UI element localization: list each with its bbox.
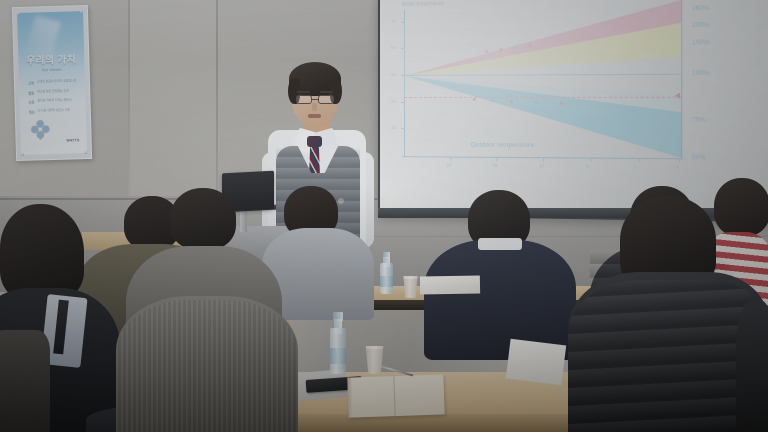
presenter-eyebrow-right bbox=[320, 91, 333, 93]
poster-value-key: 신뢰 bbox=[28, 99, 34, 104]
poster-value-text: 더 나은 내일을 만드는 기술 bbox=[38, 108, 71, 113]
presenter-eyebrow-left bbox=[297, 91, 310, 93]
notebook-spine bbox=[347, 378, 352, 418]
water-bottle bbox=[330, 312, 346, 374]
eyeglasses-bridge-icon bbox=[311, 99, 318, 100]
bottle-label bbox=[380, 276, 393, 287]
seminar-room-photo: 우리의 가치 Our Values 고객 고객의 성공이 우리의 성공입니다 열… bbox=[0, 0, 768, 432]
notebook bbox=[347, 374, 444, 417]
projection-screen: Water temperature 70 60 50 40 30 20 15 1… bbox=[380, 0, 768, 218]
poster-mount-screw bbox=[17, 12, 20, 15]
handout-paper bbox=[506, 339, 566, 386]
wall-poster: 우리의 가치 Our Values 고객 고객의 성공이 우리의 성공입니다 열… bbox=[12, 5, 92, 161]
eyeglasses-icon bbox=[296, 95, 312, 104]
attendee-knit-texture bbox=[116, 300, 298, 432]
water-bottle bbox=[380, 252, 393, 294]
clover-logo-icon bbox=[29, 118, 52, 141]
poster-subtitle: Our Values bbox=[19, 67, 85, 73]
poster-value-text: 최고를 향한 끊임없는 도전 bbox=[37, 89, 69, 94]
paper-cup-rim bbox=[364, 346, 385, 349]
screen-shading bbox=[380, 0, 768, 218]
attendee-body bbox=[736, 300, 768, 432]
attendee-body bbox=[0, 330, 50, 432]
poster-mount-screw bbox=[84, 151, 87, 154]
poster-value-text: 정직과 약속을 지키는 파트너 bbox=[37, 98, 71, 103]
attendee-head bbox=[170, 188, 236, 250]
attendee-collar bbox=[478, 238, 522, 250]
presenter-tie-knot bbox=[307, 136, 322, 147]
poster-value-item: 혁신 더 나은 내일을 만드는 기술 bbox=[29, 108, 79, 114]
poster-mount-screw bbox=[21, 153, 24, 156]
handout-paper bbox=[420, 275, 480, 294]
poster-value-text: 고객의 성공이 우리의 성공입니다 bbox=[37, 79, 77, 84]
presenter-nose bbox=[312, 103, 317, 111]
poster-value-list: 고객 고객의 성공이 우리의 성공입니다 열정 최고를 향한 끊임없는 도전 신… bbox=[28, 79, 79, 118]
presenter-mouth bbox=[308, 114, 321, 118]
attendee-head bbox=[714, 178, 768, 236]
poster-value-item: 신뢰 정직과 약속을 지키는 파트너 bbox=[28, 98, 78, 104]
front-desk-edge bbox=[250, 414, 610, 432]
eyeglasses-icon bbox=[318, 95, 334, 104]
poster-artwork: 우리의 가치 Our Values 고객 고객의 성공이 우리의 성공입니다 열… bbox=[17, 11, 87, 155]
poster-brand: WATTS bbox=[66, 138, 79, 142]
poster-title: 우리의 가치 bbox=[18, 51, 84, 67]
attendee-head bbox=[0, 204, 84, 300]
poster-value-key: 열정 bbox=[28, 90, 34, 95]
poster-value-key: 고객 bbox=[28, 81, 34, 86]
poster-value-key: 혁신 bbox=[29, 109, 35, 114]
attendee-body bbox=[424, 240, 576, 360]
bottle-label bbox=[330, 348, 346, 364]
presenter-vest-logo-icon bbox=[338, 198, 344, 204]
poster-value-item: 고객 고객의 성공이 우리의 성공입니다 bbox=[28, 79, 78, 85]
notebook-center-fold bbox=[393, 376, 396, 416]
poster-value-item: 열정 최고를 향한 끊임없는 도전 bbox=[28, 89, 78, 95]
poster-mount-screw bbox=[80, 10, 83, 13]
